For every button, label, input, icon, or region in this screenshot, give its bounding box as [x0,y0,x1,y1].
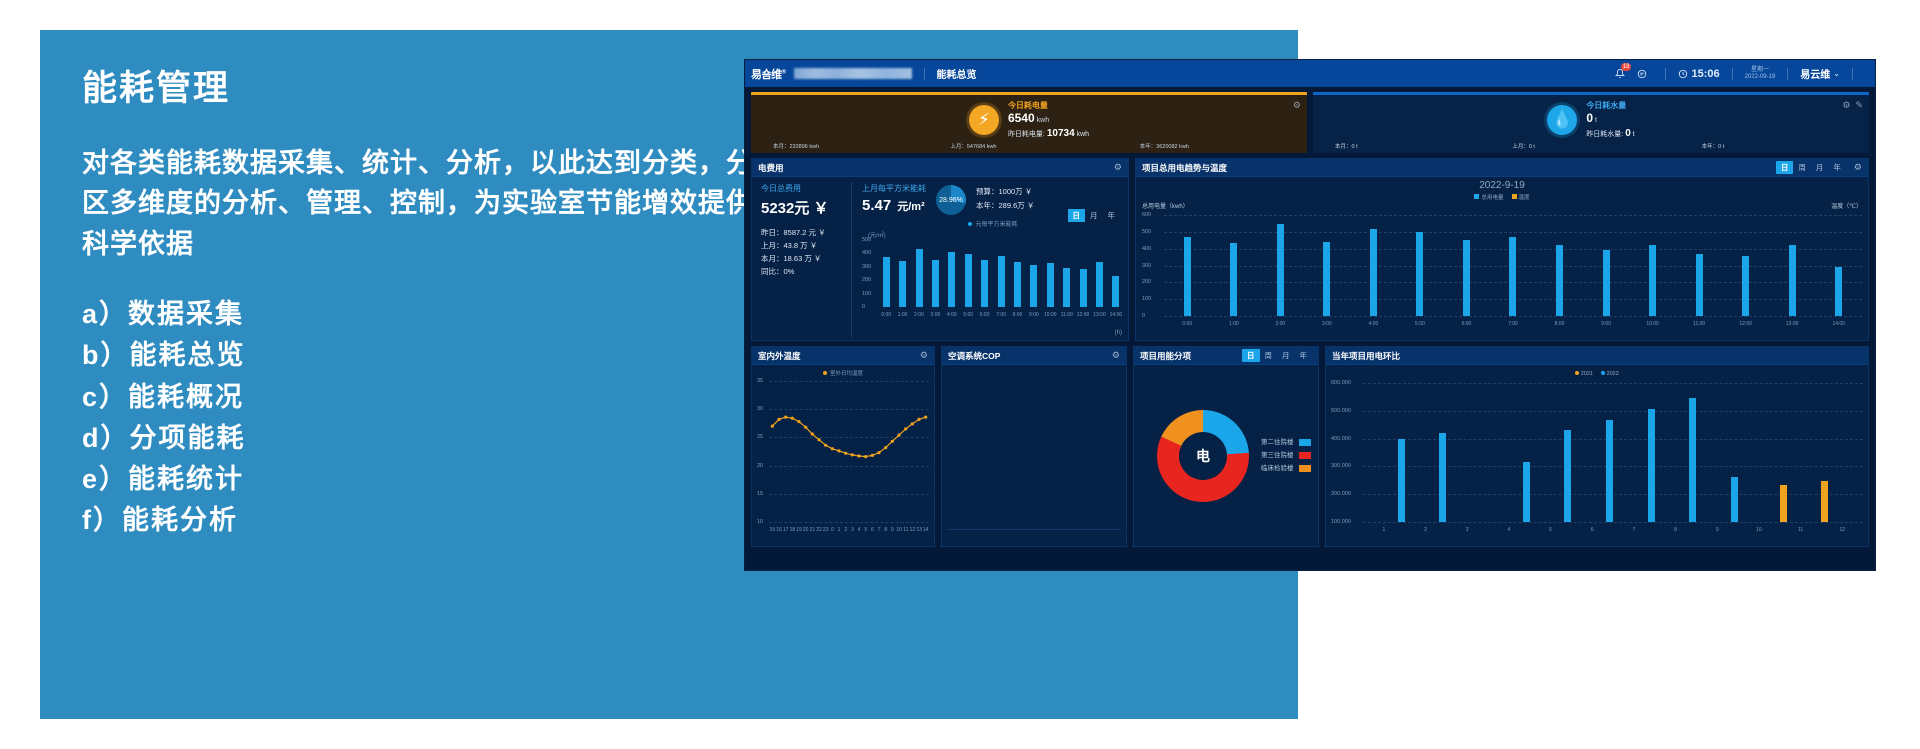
y-axis-tick: 0 [1142,313,1145,319]
kpi-value: 6540 [1008,111,1035,125]
sub-range-tabs[interactable]: 日 周 月 年 [1242,349,1312,362]
brand-logo-text: 易숌维 [751,69,782,81]
panel-title: 项目总用电趋势与温度 [1142,162,1227,174]
bar [1184,237,1191,316]
legend-label: 室外日均温度 [830,369,863,377]
bar [1821,481,1828,522]
kpi-last-month: 上月：547684 kwh [940,142,1117,150]
x-axis-labels: 0:001:002:003:004:005:006:007:008:009:00… [1164,321,1862,327]
tab-year[interactable]: 年 [1103,209,1121,222]
breadcrumb: 能耗总览 [937,66,977,81]
panel-ac-cop: 空调系统COP ⚙ [941,346,1127,547]
legend-swatch-icon [1299,439,1311,446]
legend-swatch-icon [1299,452,1311,459]
kpi-unit: kwh [1037,117,1049,124]
x-axis-tick: 19 [796,527,803,533]
sqm-value: 5.47 [862,197,891,214]
legend-label: 第二住院楼 [1261,436,1294,449]
budget-progress-pie: 28.96% [936,185,966,215]
chart-ac-cop-empty [942,365,1126,546]
current-time: 15:06 [1691,68,1719,80]
x-axis-tick: 10 [896,527,903,533]
kpi-this-year: 本年：0 t [1680,142,1869,150]
app-header: 易숌维® 能耗总览 18 15:06 星期一 2022-09-19 [745,60,1875,87]
bar [1080,269,1087,307]
y-axis-tick: 100 [1142,296,1151,302]
gridline [769,522,929,523]
x-axis-tick: 4 [1488,527,1530,533]
bar [1014,262,1021,307]
x-axis-tick: 3 [849,527,856,533]
bar [981,260,988,307]
kpi-card-electricity: ⚙ ⚡ 今日耗电量 6540kwh 昨日耗电量: 10734 kwh 本月：23… [751,92,1307,153]
y-axis-unit: (元/㎡) [868,230,1124,239]
bar [899,261,906,307]
bar [1603,250,1610,316]
kpi-row: ⚙ ⚡ 今日耗电量 6540kwh 昨日耗电量: 10734 kwh 本月：23… [745,87,1875,153]
budget-year-label: 本年：289.6万 ￥ [976,199,1034,213]
x-axis-tick: 3:00 [1304,321,1351,327]
x-axis-tick: 6 [1571,527,1613,533]
chart-year-mom: 100.000200.000300.000400.000500.000600.0… [1331,383,1863,533]
x-axis-tick: 7 [876,527,883,533]
bar [948,252,955,307]
bar [916,249,923,307]
x-axis-tick: 10:00 [1629,321,1676,327]
bar [998,256,1005,307]
legend-label: 第三住院楼 [1261,449,1294,462]
x-axis-tick: 8 [1655,527,1697,533]
bar [1564,430,1571,522]
y-axis-tick: 200 [1142,279,1151,285]
bar [1689,398,1696,522]
x-axis-tick: 10:00 [1042,312,1058,318]
y-axis-tick: 400.000 [1331,436,1351,442]
kpi-yesterday-value: 0 [1625,128,1631,139]
x-axis-tick: 16 [776,527,783,533]
y-axis-tick: 0 [862,304,865,310]
x-axis-tick: 14 [922,527,929,533]
bar-group [878,240,1124,307]
y-axis-tick: 500 [862,237,871,243]
x-axis-tick: 0:00 [1164,321,1211,327]
x-axis-tick: 12:00 [1075,312,1091,318]
legend-label: 元每平方米能耗 [975,219,1017,228]
x-axis-tick: 2 [1405,527,1447,533]
y-axis-tick: 100 [862,291,871,297]
x-axis-labels: 123456789101112 [1363,527,1863,533]
kpi-card-water: ⚙ ✎ 💧 今日耗水量 0t 昨日耗水量: 0 t 本月：0 t 上月：0 t … [1313,92,1869,153]
date-label: 2022-09-19 [1745,74,1776,80]
budget-label: 预算：1000万 ￥ [976,185,1034,199]
tab-week[interactable]: 周 [1793,161,1811,174]
date-display: 星期一 2022-09-19 [1745,67,1776,80]
x-axis-tick: 9 [1696,527,1738,533]
x-axis-tick: 2:00 [911,312,927,318]
water-drop-icon: 💧 [1547,105,1577,135]
legend-dot-icon [823,371,827,375]
bar-group [1164,215,1862,316]
x-axis-tick: 13:00 [1769,321,1816,327]
x-axis-tick: 10 [1738,527,1780,533]
bar [965,254,972,307]
y-axis-tick: 400 [862,250,871,256]
trend-range-tabs[interactable]: 日 周 月 年 [1776,161,1846,174]
x-axis-unit: (h) [1115,330,1122,336]
gear-icon[interactable]: ⚙ [1112,350,1120,361]
y-axis-label: 总用电量（kwh） [1142,201,1189,210]
clock-display: 15:06 [1678,68,1719,80]
y-axis-tick: 300.000 [1331,463,1351,469]
bar [1439,433,1446,522]
chart-legend: 总用电量 温度 [1142,193,1862,201]
kpi-yesterday-label: 昨日耗水量: [1586,131,1623,138]
panel-electricity-fee: 电费用 ⚙ 今日总费用 5232元 ￥ 昨日：8587.2 元 ￥ 上月：43.… [751,158,1129,341]
bar [932,260,939,307]
divider [1787,68,1788,80]
x-axis-tick: 14:00 [1815,321,1862,327]
kpi-yesterday-unit: kwh [1077,131,1089,138]
x-axis-tick: 5:00 [960,312,976,318]
message-icon[interactable] [1631,69,1653,79]
bar [1323,242,1330,316]
donut-center-label: 电 [1157,410,1249,502]
panel-indoor-outdoor-temp: 室内外温度 ⚙ 室外日均温度 1015202530351516171819202… [751,346,935,547]
x-axis-tick: 6:00 [976,312,992,318]
legend-dot-icon [1601,371,1605,375]
x-axis-tick: 3:00 [927,312,943,318]
tab-day[interactable]: 日 [1776,161,1794,174]
brand-logo[interactable]: 易숌维® [751,66,786,82]
panel-title: 当年项目用电环比 [1332,350,1400,362]
tab-day[interactable]: 日 [1068,209,1086,222]
divider [924,68,925,80]
x-axis-tick: 7:00 [993,312,1009,318]
bar [1742,256,1749,316]
sqm-unit: 元/m² [897,201,925,213]
x-axis-tick: 21 [809,527,816,533]
chevron-down-icon: ⌄ [1833,69,1840,78]
y-axis-tick: 400 [1142,246,1151,252]
x-axis-tick: 12 [1821,527,1863,533]
y-axis-tick: 20 [757,463,763,469]
y2-axis-label: 温度（℃） [1831,201,1862,210]
fee-range-tabs[interactable]: 日 月 年 [1068,209,1121,222]
bottom-row: 室内外温度 ⚙ 室外日均温度 1015202530351516171819202… [745,341,1875,553]
panel-title: 空调系统COP [948,350,1000,362]
x-axis-tick: 6 [869,527,876,533]
fee-summary: 今日总费用 5232元 ￥ 昨日：8587.2 元 ￥ 上月：43.8 万 ￥ … [756,183,852,338]
x-axis-tick: 18 [789,527,796,533]
panel-title: 项目用能分项 [1140,350,1191,362]
x-axis-tick: 11 [1780,527,1822,533]
donut-ring: 电 [1157,410,1249,502]
gear-icon[interactable]: ⚙ [1293,100,1301,111]
y-axis-tick: 100.000 [1331,519,1351,525]
bar-group [1363,383,1863,522]
panel-title: 室内外温度 [758,350,801,362]
chart-fee-hourly: 01002003004005000:001:002:003:004:005:00… [862,240,1124,318]
project-name-redacted [794,68,912,79]
panel-energy-subitems: 项目用能分项 日 周 月 年 电 第二住院楼 第三住院楼 临床检验楼 [1133,346,1319,547]
bar [1780,485,1787,522]
y-axis-tick: 35 [757,378,763,384]
x-axis-tick: 9:00 [1026,312,1042,318]
x-axis-tick: 5:00 [1397,321,1444,327]
x-axis-tick: 3 [1446,527,1488,533]
legend-label: 2022 [1607,371,1619,377]
divider [1852,68,1853,80]
dashboard-screenshot: 易숌维® 能耗总览 18 15:06 星期一 2022-09-19 [745,60,1875,570]
x-axis-tick: 9:00 [1583,321,1630,327]
sqm-label: 上月每平方米能耗 [862,183,926,194]
gear-icon[interactable]: ⚙ [1854,162,1862,173]
legend-label: 温度 [1519,195,1530,201]
bar [1398,439,1405,522]
x-axis-tick: 11:00 [1058,312,1074,318]
budget-percent: 28.96% [939,197,963,204]
bar [1047,263,1054,307]
notifications-bell-icon[interactable]: 18 [1609,68,1631,79]
notification-badge: 18 [1621,63,1632,71]
x-axis-tick: 7:00 [1490,321,1537,327]
kpi-this-month: 本月：0 t [1313,142,1502,150]
tab-day[interactable]: 日 [1242,349,1260,362]
legend-dot-icon [968,222,972,226]
x-axis-tick: 12:00 [1722,321,1769,327]
bar [1523,462,1530,522]
kpi-label: 今日耗电量 [1008,101,1089,111]
donut-legend: 第二住院楼 第三住院楼 临床检验楼 [1261,436,1311,475]
x-axis-tick: 11:00 [1676,321,1723,327]
kpi-unit: t [1595,117,1597,124]
x-axis-tick: 4:00 [1350,321,1397,327]
x-axis-tick: 1 [836,527,843,533]
kpi-this-month: 本月：232896 kwh [751,142,940,150]
tab-week[interactable]: 周 [1260,349,1278,362]
legend-swatch-icon [1474,194,1479,199]
x-axis-tick: 15 [769,527,776,533]
y-axis-tick: 300 [1142,263,1151,269]
tab-year[interactable]: 年 [1828,161,1846,174]
bar [1648,409,1655,522]
x-axis-tick: 9 [889,527,896,533]
divider [1732,68,1733,80]
x-axis-tick: 8:00 [1009,312,1025,318]
chart-temperature: 1015202530351516171819202122230123456789… [757,381,929,533]
x-axis-tick: 17 [782,527,789,533]
y-axis-tick: 600 [1142,212,1151,218]
bar [1370,229,1377,316]
bar [1063,268,1070,307]
tab-year[interactable]: 年 [1295,349,1313,362]
x-axis-tick: 1:00 [894,312,910,318]
bar [1230,243,1237,316]
bar [1789,245,1796,316]
x-axis-tick: 4 [856,527,863,533]
kpi-yesterday-label: 昨日耗电量: [1008,131,1045,138]
x-axis-tick: 23 [822,527,829,533]
panel-title: 电费用 [758,162,784,174]
legend-dot-icon [1575,371,1579,375]
gear-icon[interactable]: ⚙ [1114,162,1122,173]
bar [883,257,890,307]
y-axis-tick: 300 [862,264,871,270]
x-axis-tick: 6:00 [1443,321,1490,327]
line-series [769,381,929,522]
bar [1277,224,1284,316]
x-axis-tick: 14:00 [1108,312,1124,318]
legend-label: 临床检验楼 [1261,462,1294,475]
bar [1463,240,1470,316]
user-name-label: 易云维 [1800,66,1830,81]
x-axis-tick: 22 [816,527,823,533]
x-axis-tick: 1 [1363,527,1405,533]
y-axis-tick: 600.000 [1331,380,1351,386]
bar [1731,477,1738,522]
promo-description: 对各类能耗数据采集、统计、分析，以此达到分类，分区多维度的分析、管理、控制，为实… [82,143,772,265]
fee-line: 本月：18.63 万 ￥ [761,252,851,265]
kpi-label: 今日耗水量 [1586,101,1634,111]
x-axis-tick: 5 [862,527,869,533]
x-axis-tick: 13 [916,527,923,533]
y-axis-tick: 25 [757,434,763,440]
y-axis-tick: 200 [862,277,871,283]
y-axis-tick: 15 [757,491,763,497]
legend-label: 总用电量 [1481,195,1503,201]
x-axis-tick: 5 [1530,527,1572,533]
tab-month[interactable]: 月 [1277,349,1295,362]
kpi-value: 0 [1586,111,1593,125]
x-axis-tick: 8:00 [1536,321,1583,327]
legend-swatch-icon [1299,465,1311,472]
divider [1665,68,1666,80]
y-axis-tick: 500.000 [1331,408,1351,414]
legend-swatch-icon [1512,194,1517,199]
y-axis-tick: 200.000 [1331,491,1351,497]
gear-icon[interactable]: ⚙ [920,350,928,361]
x-axis-labels: 0:001:002:003:004:005:006:007:008:009:00… [878,312,1124,318]
legend-label: 2021 [1581,371,1593,377]
bar [1096,262,1103,307]
kpi-yesterday-value: 10734 [1047,128,1075,139]
chart-legend: 2021 2022 [1331,371,1863,377]
bar [1649,245,1656,316]
x-axis-tick: 2 [842,527,849,533]
middle-row: 电费用 ⚙ 今日总费用 5232元 ￥ 昨日：8587.2 元 ￥ 上月：43.… [745,153,1875,341]
y-axis-tick: 500 [1142,229,1151,235]
tab-month[interactable]: 月 [1085,209,1103,222]
registered-mark: ® [782,69,786,75]
bar [1696,254,1703,316]
y-axis-tick: 30 [757,406,763,412]
bar [1606,420,1613,522]
bar [1556,245,1563,316]
x-axis-tick: 4:00 [944,312,960,318]
today-cost-label: 今日总费用 [761,183,851,194]
x-axis-tick: 12 [909,527,916,533]
x-axis-tick: 0 [829,527,836,533]
x-axis-tick: 0:00 [878,312,894,318]
gridline [1363,522,1863,523]
bar [1030,265,1037,307]
bar [1835,267,1842,316]
bar [1112,276,1119,307]
panel-project-trend: 项目总用电趋势与温度 日 周 月 年 ⚙ 2022-9-19 总用电量 温度 总… [1135,158,1869,341]
kpi-yesterday-unit: t [1633,131,1635,138]
x-axis-tick: 11 [902,527,909,533]
x-axis-tick: 8 [882,527,889,533]
edit-icon[interactable]: ✎ [1855,100,1863,111]
user-menu[interactable]: 易云维 ⌄ [1800,66,1840,81]
x-axis-tick: 7 [1613,527,1655,533]
gear-icon[interactable]: ⚙ [1842,100,1850,111]
x-axis-tick: 2:00 [1257,321,1304,327]
x-axis-tick: 1:00 [1211,321,1258,327]
bar [1509,237,1516,316]
chart-donut: 电 第二住院楼 第三住院楼 临床检验楼 [1139,369,1313,542]
x-axis-tick: 20 [802,527,809,533]
x-axis-labels: 15161718192021222301234567891011121314 [769,527,929,533]
x-axis-tick: 13:00 [1091,312,1107,318]
tab-month[interactable]: 月 [1811,161,1829,174]
bar [1416,232,1423,316]
fee-line: 昨日：8587.2 元 ￥ [761,226,851,239]
chart-subtitle: 2022-9-19 [1142,180,1862,191]
y-axis-tick: 10 [757,519,763,525]
clock-icon [1678,69,1688,79]
kpi-last-month: 上月：0 t [1502,142,1679,150]
bolt-icon: ⚡ [969,105,999,135]
fee-line: 上月：43.8 万 ￥ [761,239,851,252]
today-cost-value: 5232元 ￥ [761,197,851,218]
kpi-this-year: 本年：3620082 kwh [1118,142,1307,150]
gridline [1164,316,1862,317]
panel-year-electricity-mom: 当年项目用电环比 2021 2022 100.000200.000300.000… [1325,346,1869,547]
chart-project-trend: 01002003004005006000:001:002:003:004:005… [1142,215,1862,327]
chart-legend: 室外日均温度 [757,369,929,377]
fee-line: 同比：0% [761,265,851,278]
